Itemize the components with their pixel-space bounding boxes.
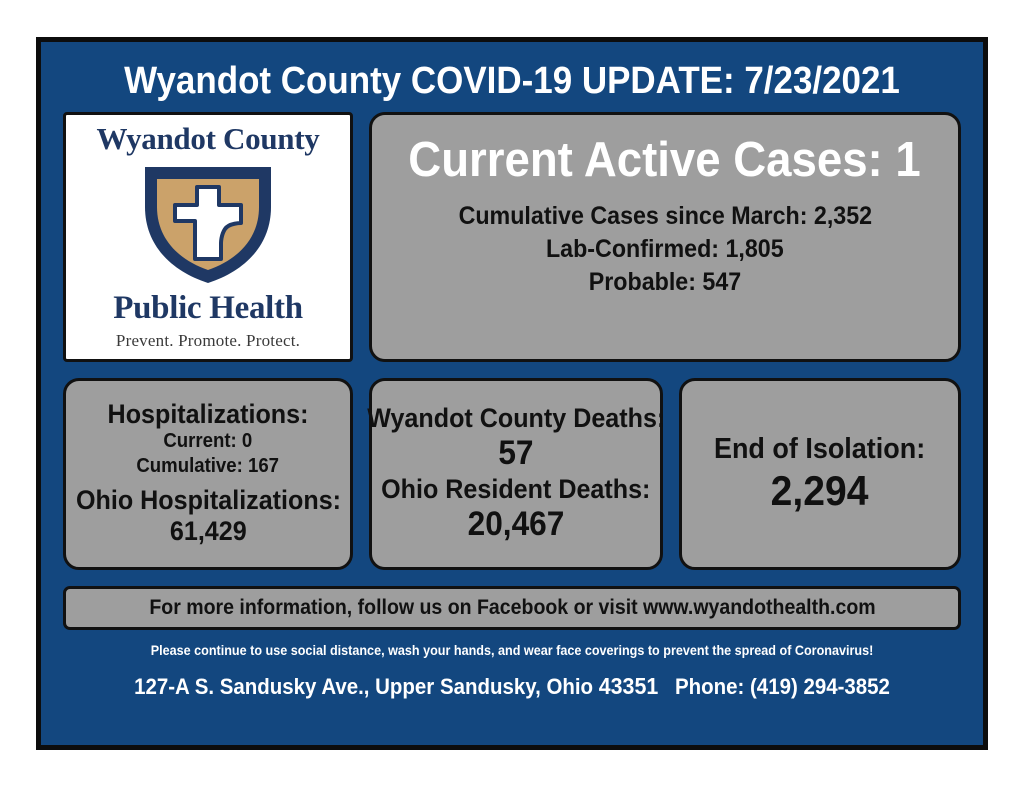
end-of-isolation-panel: End of Isolation: 2,294 xyxy=(679,378,961,570)
deaths-panel: Wyandot County Deaths: 57 Ohio Resident … xyxy=(369,378,663,570)
shield-cross-icon xyxy=(133,159,283,287)
ohio-deaths-value: 20,467 xyxy=(468,504,565,545)
hospitalizations-cumulative: Cumulative: 167 xyxy=(137,454,280,479)
page-title: Wyandot County COVID-19 UPDATE: 7/23/202… xyxy=(99,62,925,100)
more-information-bar: For more information, follow us on Faceb… xyxy=(63,586,961,630)
end-of-isolation-value: 2,294 xyxy=(771,467,869,515)
county-deaths-value: 57 xyxy=(498,433,533,474)
logo-org-line2: Public Health xyxy=(113,292,303,325)
footer-contact-line: 127-A S. Sandusky Ave., Upper Sandusky, … xyxy=(94,674,929,699)
stats-row: Hospitalizations: Current: 0 Cumulative:… xyxy=(63,378,961,570)
footer: Please continue to use social distance, … xyxy=(63,643,961,700)
footer-address: 127-A S. Sandusky Ave., Upper Sandusky, … xyxy=(134,674,599,699)
lab-confirmed-line: Lab-Confirmed: 1,805 xyxy=(546,233,784,266)
county-deaths-heading: Wyandot County Deaths: xyxy=(367,403,665,433)
agency-logo-card: Wyandot County Public Health Prevent. Pr… xyxy=(63,112,353,362)
more-information-text: For more information, follow us on Faceb… xyxy=(149,596,875,620)
footer-zip: 43351 xyxy=(599,673,658,699)
active-cases-panel: Current Active Cases: 1 Cumulative Cases… xyxy=(369,112,961,362)
footer-phone: Phone: (419) 294-3852 xyxy=(675,674,890,699)
probable-line: Probable: 547 xyxy=(589,266,741,299)
hospitalizations-heading: Hospitalizations: xyxy=(108,399,309,429)
ohio-hospitalizations-heading: Ohio Hospitalizations: xyxy=(75,485,340,515)
ohio-deaths-heading: Ohio Resident Deaths: xyxy=(381,474,650,504)
active-cases-headline: Current Active Cases: 1 xyxy=(409,135,921,186)
top-row: Wyandot County Public Health Prevent. Pr… xyxy=(63,112,961,362)
end-of-isolation-heading: End of Isolation: xyxy=(714,433,925,466)
logo-org-line1: Wyandot County xyxy=(97,123,320,154)
hospitalizations-panel: Hospitalizations: Current: 0 Cumulative:… xyxy=(63,378,353,570)
poster-board: Wyandot County COVID-19 UPDATE: 7/23/202… xyxy=(41,42,983,745)
hospitalizations-current: Current: 0 xyxy=(164,429,253,454)
footer-guidance-note: Please continue to use social distance, … xyxy=(108,643,916,658)
ohio-hospitalizations-value: 61,429 xyxy=(170,515,247,549)
logo-tagline: Prevent. Promote. Protect. xyxy=(116,332,300,349)
covid-update-poster: Wyandot County COVID-19 UPDATE: 7/23/202… xyxy=(36,37,988,750)
cumulative-cases-line: Cumulative Cases since March: 2,352 xyxy=(458,200,872,233)
